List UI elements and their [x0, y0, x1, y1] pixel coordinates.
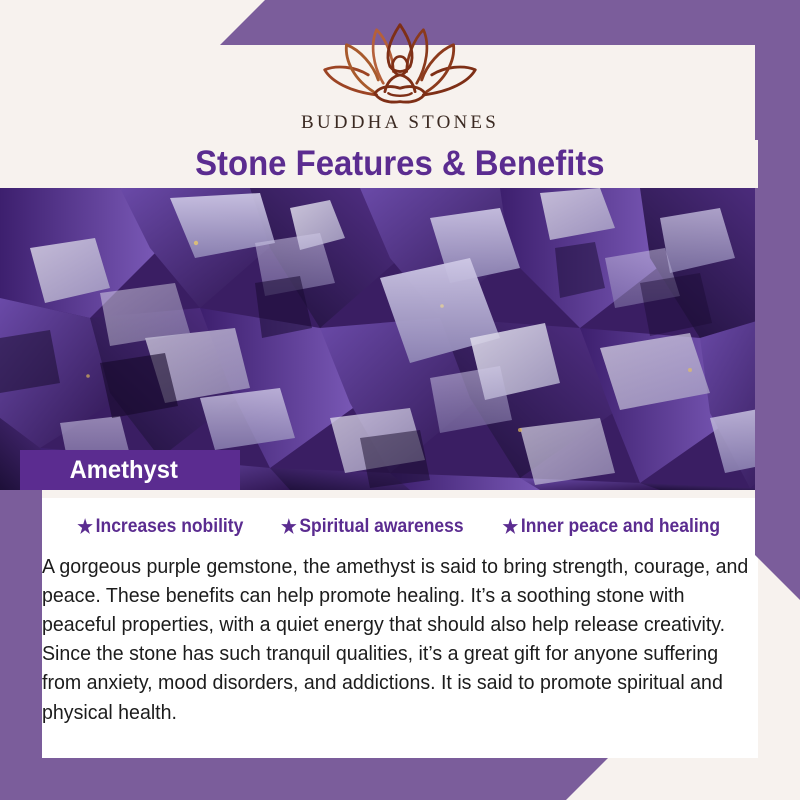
benefit-label: Inner peace and healing	[521, 516, 720, 538]
benefit-label: Increases nobility	[96, 516, 244, 538]
benefit-item: ★ Inner peace and healing	[503, 516, 721, 538]
star-icon: ★	[281, 518, 297, 537]
decorative-frame-left	[0, 490, 42, 800]
benefit-label: Spiritual awareness	[299, 516, 463, 538]
decorative-frame-bottom	[0, 758, 608, 800]
benefits-list: ★ Increases nobility ★ Spiritual awarene…	[42, 498, 758, 538]
brand-header: BUDDHA STONES	[0, 18, 800, 143]
benefit-item: ★ Increases nobility	[77, 516, 243, 538]
stone-description: A gorgeous purple gemstone, the amethyst…	[42, 552, 757, 727]
star-icon: ★	[503, 518, 519, 537]
star-icon: ★	[77, 518, 93, 537]
page-title: Stone Features & Benefits	[195, 144, 605, 184]
stone-name: Amethyst	[24, 456, 178, 485]
stone-name-banner: Amethyst	[20, 450, 240, 490]
content-card: ★ Increases nobility ★ Spiritual awarene…	[42, 498, 758, 758]
lotus-buddha-logo-icon	[316, 18, 484, 110]
title-band: Stone Features & Benefits	[42, 140, 758, 188]
hero-image	[0, 188, 800, 490]
infographic-page: BUDDHA STONES Stone Features & Benefits	[0, 0, 800, 800]
benefit-item: ★ Spiritual awareness	[281, 516, 464, 538]
brand-name: BUDDHA STONES	[301, 112, 499, 134]
amethyst-crystal-cluster-photo	[0, 188, 800, 490]
